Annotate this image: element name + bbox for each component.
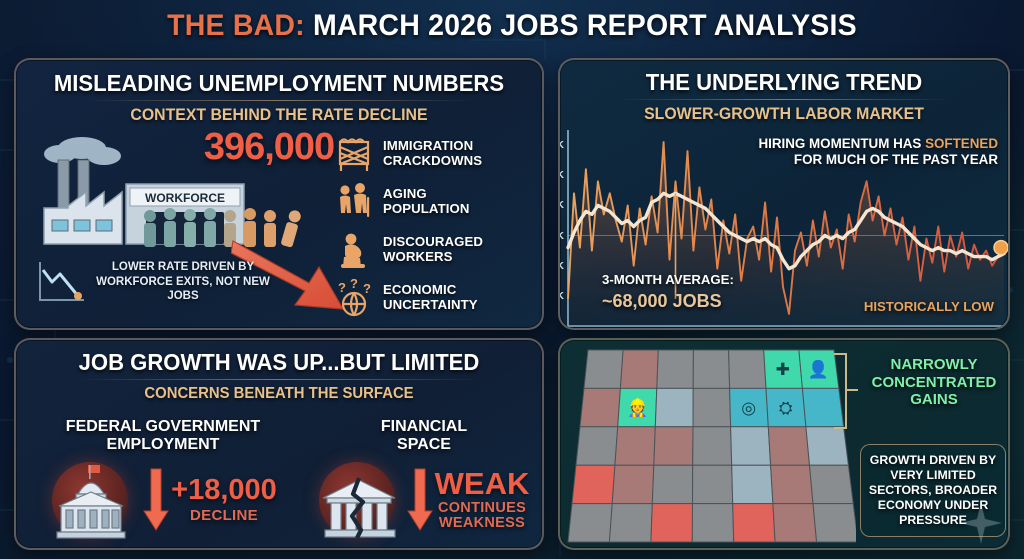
unemployment-title: MISLEADING UNEMPLOYMENT NUMBERS <box>27 70 532 97</box>
stat-value: +18,000 <box>171 476 277 505</box>
down-arrow-icon <box>407 467 433 533</box>
reason-list: IMMIGRATION CRACKDOWNS AGING POPULATION <box>334 130 534 322</box>
discouraged-worker-icon <box>334 229 374 271</box>
sparkle-icon <box>958 500 1004 546</box>
heatmap-cell[interactable] <box>806 427 849 465</box>
heatmap-cell[interactable] <box>652 465 692 503</box>
heatmap-cell[interactable] <box>693 350 729 388</box>
chart-average-label: 3-MONTH AVERAGE: <box>602 272 734 287</box>
chart-x-axis-labels: JAN 2022 2023 MARCH <box>568 328 1004 330</box>
doctor-icon[interactable]: 👤 <box>808 359 829 380</box>
stat-title: FINANCIAL SPACE <box>308 418 540 454</box>
stat-federal-employment: FEDERAL GOVERNMENT EMPLOYMENT <box>22 418 304 542</box>
x-tick-2023: 2023 <box>830 328 855 330</box>
stat-title: FEDERAL GOVERNMENT EMPLOYMENT <box>22 418 304 454</box>
heatmap-cell[interactable] <box>733 504 775 542</box>
unemployment-subtitle: CONTEXT BEHIND THE RATE DECLINE <box>27 106 532 125</box>
chart-historically-low-label: HISTORICALLY LOW <box>864 299 994 314</box>
heatmap-cell[interactable] <box>771 465 813 503</box>
trend-header: THE UNDERLYING TREND SLOWER-GROWTH LABOR… <box>560 69 1008 124</box>
annotation-text-line2: FOR MUCH OF THE PAST YEAR <box>794 152 998 167</box>
list-item-discouraged: DISCOURAGED WORKERS <box>334 226 534 274</box>
list-item-label: DISCOURAGED WORKERS <box>383 235 483 264</box>
y-tick-label: 20K <box>558 290 564 302</box>
narrow-gains-callout: NARROWLY CONCENTRATED GAINS <box>860 356 1008 409</box>
heatmap-cell[interactable] <box>609 504 652 542</box>
down-arrow-icon <box>143 467 169 533</box>
ai-brain-icon[interactable]: ◎ <box>741 399 756 419</box>
x-tick-march: MARCH <box>963 328 1004 330</box>
y-tick-label: 100K <box>558 169 564 181</box>
x-tick-2022: 2022 <box>698 328 723 330</box>
svg-text:?: ? <box>350 277 358 291</box>
workforce-exit-number: 396,000 <box>184 126 354 169</box>
heatmap-cell[interactable] <box>813 504 856 542</box>
heatmap-cell[interactable] <box>584 350 623 388</box>
x-tick-jan: JAN <box>568 328 590 330</box>
divider <box>619 99 949 100</box>
border-fence-icon <box>334 133 374 175</box>
sector-heatmap-grid: ✚👤👷◎⛭ <box>566 346 856 546</box>
heatmap-cell[interactable] <box>615 427 655 465</box>
stat-value: WEAK <box>435 468 530 499</box>
panel-misleading-unemployment: MISLEADING UNEMPLOYMENT NUMBERS CONTEXT … <box>14 58 544 330</box>
y-tick-label: 120K <box>558 139 564 151</box>
heatmap-cell[interactable] <box>729 350 766 388</box>
workforce-sign-label: WORKFORCE <box>145 191 225 205</box>
chart-average-value: ~68,000 JOBS <box>602 291 722 312</box>
heatmap-cell[interactable] <box>693 427 732 465</box>
heatmap-cell[interactable] <box>654 427 693 465</box>
y-tick-label: 40K <box>558 260 564 272</box>
heatmap-cell[interactable] <box>612 465 654 503</box>
jobgrowth-header: JOB GROWTH WAS UP...BUT LIMITED CONCERNS… <box>16 349 542 403</box>
stat-sublabel: DECLINE <box>171 508 277 524</box>
heatmap-cell[interactable] <box>657 350 694 388</box>
heatmap-cell[interactable] <box>693 388 731 426</box>
heatmap-cell[interactable] <box>572 465 615 503</box>
y-tick-label: 80K <box>558 199 564 211</box>
heatmap-cell[interactable] <box>651 504 693 542</box>
annotation-text-plain: HIRING MOMENTUM HAS <box>758 136 925 151</box>
chart-annotation-momentum: HIRING MOMENTUM HAS SOFTENED FOR MUCH OF… <box>748 136 998 169</box>
elderly-people-icon <box>334 181 374 223</box>
jobgrowth-title: JOB GROWTH WAS UP...BUT LIMITED <box>27 349 532 376</box>
stat-financial-space: FINANCIAL SPACE <box>308 418 540 542</box>
heatmap-cell[interactable] <box>580 388 620 426</box>
list-item-aging: AGING POPULATION <box>334 178 534 226</box>
jobgrowth-subtitle: CONCERNS BENEATH THE SURFACE <box>27 385 532 403</box>
unemployment-header: MISLEADING UNEMPLOYMENT NUMBERS CONTEXT … <box>16 70 542 125</box>
declining-line-chart-icon <box>34 258 88 306</box>
trend-title: THE UNDERLYING TREND <box>569 69 999 96</box>
globe-question-icon: ??? <box>334 277 374 319</box>
cracked-bank-icon <box>319 458 405 542</box>
title-accent-text: THE BAD: <box>167 9 305 42</box>
list-item-uncertainty: ??? ECONOMIC UNCERTAINTY <box>334 274 534 322</box>
panel-sector-concentration: ✚👤👷◎⛭ NARROWLY CONCENTRATED GAINS GROWTH… <box>558 338 1010 550</box>
list-item-label: AGING POPULATION <box>383 187 469 216</box>
heatmap-cell[interactable] <box>773 504 817 542</box>
trend-subtitle: SLOWER-GROWTH LABOR MARKET <box>569 105 999 124</box>
heatmap-cell[interactable] <box>655 388 693 426</box>
heatmap-cell[interactable] <box>810 465 854 503</box>
heatmap-cell[interactable] <box>576 427 618 465</box>
list-item-label: IMMIGRATION CRACKDOWNS <box>383 139 482 168</box>
construction-workers-icon[interactable]: 👷 <box>627 398 648 419</box>
list-item-label: ECONOMIC UNCERTAINTY <box>383 283 478 312</box>
heatmap-cell[interactable] <box>731 427 771 465</box>
medical-plus-icon[interactable]: ✚ <box>776 360 790 380</box>
title-main-text: MARCH 2026 JOBS REPORT ANALYSIS <box>313 9 857 42</box>
panel-job-growth: JOB GROWTH WAS UP...BUT LIMITED CONCERNS… <box>14 338 544 550</box>
heatmap-cell[interactable] <box>568 504 612 542</box>
divider <box>84 100 474 101</box>
capitol-building-icon <box>49 458 141 542</box>
heatmap-cell[interactable] <box>693 465 733 503</box>
manufacturing-cranes-icon[interactable]: ⛭ <box>779 399 793 419</box>
svg-text:?: ? <box>338 280 346 295</box>
page-title: THE BAD: MARCH 2026 JOBS REPORT ANALYSIS <box>0 0 1024 52</box>
y-tick-label: 60K <box>558 230 564 242</box>
divider <box>79 379 479 380</box>
heatmap-cell[interactable] <box>732 465 773 503</box>
list-item-immigration: IMMIGRATION CRACKDOWNS <box>334 130 534 178</box>
heatmap-cell[interactable] <box>620 350 658 388</box>
annotation-text-highlight: SOFTENED <box>925 136 998 151</box>
stat-sublabel: CONTINUES WEAKNESS <box>435 501 530 531</box>
svg-text:?: ? <box>363 281 371 296</box>
panel-underlying-trend: THE UNDERLYING TREND SLOWER-GROWTH LABOR… <box>558 58 1010 330</box>
unemployment-note: LOWER RATE DRIVEN BY WORKFORCE EXITS, NO… <box>88 260 278 304</box>
heatmap-cell[interactable] <box>692 504 733 542</box>
heatmap-cell[interactable] <box>768 427 809 465</box>
infographic-canvas: THE BAD: MARCH 2026 JOBS REPORT ANALYSIS… <box>0 0 1024 559</box>
